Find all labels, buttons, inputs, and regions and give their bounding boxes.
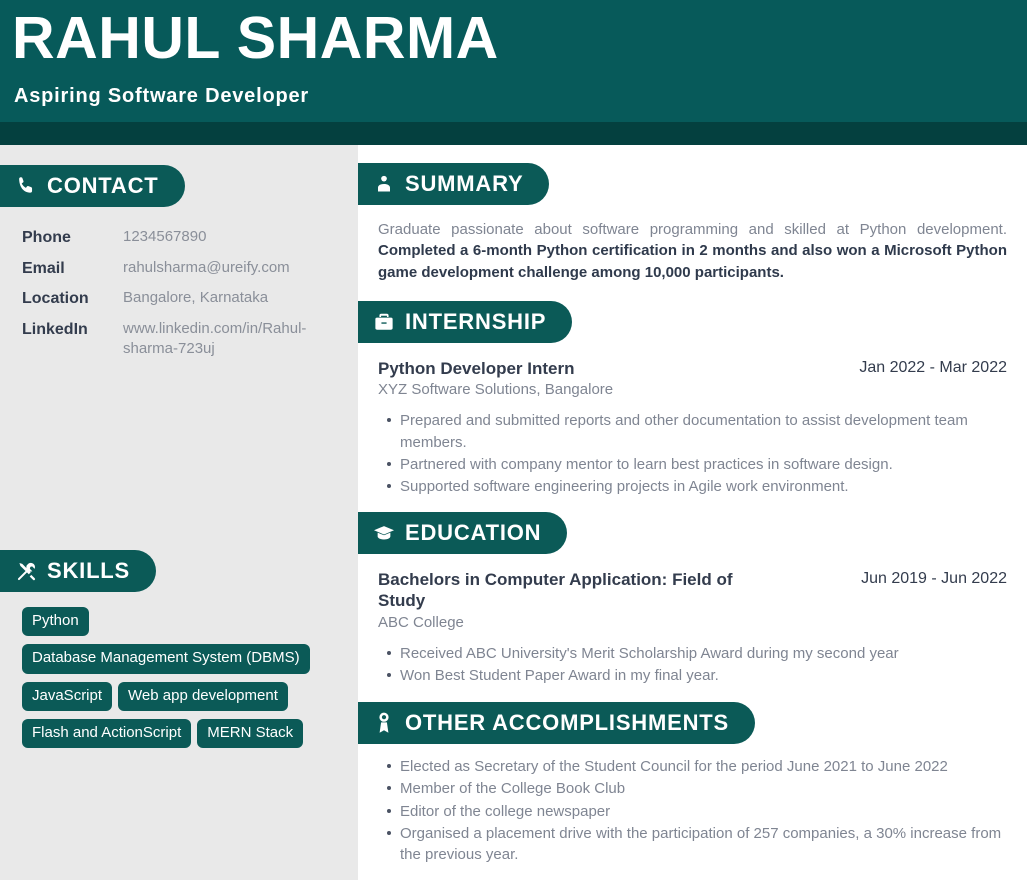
internship-job-title: Python Developer Intern xyxy=(378,358,574,379)
skills-tag-list: Python Database Management System (DBMS)… xyxy=(22,607,342,748)
header-accent-band xyxy=(0,122,1027,145)
education-section-title: EDUCATION xyxy=(405,520,541,546)
graduation-cap-icon xyxy=(372,521,396,545)
skill-tag: Database Management System (DBMS) xyxy=(22,644,310,673)
accomplishments-section: OTHER ACCOMPLISHMENTS Elected as Secreta… xyxy=(358,702,1027,866)
summary-text-bold: Completed a 6-month Python certification… xyxy=(378,242,1007,280)
contact-label: Location xyxy=(22,288,123,310)
list-item: Supported software engineering projects … xyxy=(400,476,1007,497)
accomplishments-section-header: OTHER ACCOMPLISHMENTS xyxy=(358,702,755,744)
summary-text: Graduate passionate about software progr… xyxy=(378,219,1007,283)
contact-label: Phone xyxy=(22,227,123,249)
contact-row-location: Location Bangalore, Karnataka xyxy=(22,288,342,310)
award-ribbon-icon xyxy=(372,711,396,735)
education-date-range: Jun 2019 - Jun 2022 xyxy=(861,569,1007,588)
list-item: Partnered with company mentor to learn b… xyxy=(400,454,1007,475)
contact-section-title: CONTACT xyxy=(47,173,159,199)
contact-value-linkedin[interactable]: www.linkedin.com/in/Rahul-sharma-723uj xyxy=(123,319,323,360)
summary-text-regular: Graduate passionate about software progr… xyxy=(378,221,1007,238)
education-entry-head: Bachelors in Computer Application: Field… xyxy=(378,569,1007,612)
main-column: SUMMARY Graduate passionate about softwa… xyxy=(358,145,1027,880)
skill-tag: Web app development xyxy=(118,682,288,711)
list-item: Member of the College Book Club xyxy=(400,778,1007,799)
candidate-role: Aspiring Software Developer xyxy=(14,85,309,108)
phone-icon xyxy=(14,174,38,198)
contact-row-linkedin: LinkedIn www.linkedin.com/in/Rahul-sharm… xyxy=(22,319,342,360)
sidebar-column: CONTACT Phone 1234567890 Email rahulshar… xyxy=(0,145,358,880)
internship-date-range: Jan 2022 - Mar 2022 xyxy=(859,358,1007,377)
internship-company: XYZ Software Solutions, Bangalore xyxy=(378,381,1007,398)
resume-page: RAHUL SHARMA Aspiring Software Developer… xyxy=(0,0,1027,880)
accomplishments-section-title: OTHER ACCOMPLISHMENTS xyxy=(405,710,729,736)
skill-tag: JavaScript xyxy=(22,682,112,711)
summary-section-title: SUMMARY xyxy=(405,171,523,197)
briefcase-icon xyxy=(372,310,396,334)
summary-section-header: SUMMARY xyxy=(358,163,549,205)
internship-section: INTERNSHIP Python Developer Intern Jan 2… xyxy=(358,301,1027,498)
list-item: Organised a placement drive with the par… xyxy=(400,823,1007,866)
education-bullet-list: Received ABC University's Merit Scholars… xyxy=(378,643,1007,687)
header-banner: RAHUL SHARMA Aspiring Software Developer xyxy=(0,0,1027,122)
skill-tag: Python xyxy=(22,607,89,636)
education-section: EDUCATION Bachelors in Computer Applicat… xyxy=(358,512,1027,687)
contact-label: LinkedIn xyxy=(22,319,123,341)
contact-row-phone: Phone 1234567890 xyxy=(22,227,342,249)
internship-bullet-list: Prepared and submitted reports and other… xyxy=(378,410,1007,497)
education-institution: ABC College xyxy=(378,614,1007,631)
list-item: Editor of the college newspaper xyxy=(400,801,1007,822)
contact-row-email: Email rahulsharma@ureify.com xyxy=(22,258,342,280)
list-item: Elected as Secretary of the Student Coun… xyxy=(400,756,1007,777)
list-item: Won Best Student Paper Award in my final… xyxy=(400,665,1007,686)
candidate-name: RAHUL SHARMA xyxy=(12,8,499,70)
tools-icon xyxy=(14,559,38,583)
contact-value-email: rahulsharma@ureify.com xyxy=(123,258,290,278)
contact-section-header: CONTACT xyxy=(0,165,185,207)
contact-label: Email xyxy=(22,258,123,280)
list-item: Prepared and submitted reports and other… xyxy=(400,410,1007,453)
contact-details-list: Phone 1234567890 Email rahulsharma@ureif… xyxy=(22,227,342,368)
summary-section: SUMMARY Graduate passionate about softwa… xyxy=(358,163,1027,283)
contact-value-phone: 1234567890 xyxy=(123,227,206,247)
education-degree-title: Bachelors in Computer Application: Field… xyxy=(378,569,778,612)
skills-section-header: SKILLS xyxy=(0,550,156,592)
education-section-header: EDUCATION xyxy=(358,512,567,554)
skill-tag: MERN Stack xyxy=(197,719,303,748)
contact-value-location: Bangalore, Karnataka xyxy=(123,288,268,308)
list-item: Received ABC University's Merit Scholars… xyxy=(400,643,1007,664)
internship-entry-head: Python Developer Intern Jan 2022 - Mar 2… xyxy=(378,358,1007,379)
internship-section-title: INTERNSHIP xyxy=(405,309,546,335)
skill-tag: Flash and ActionScript xyxy=(22,719,191,748)
internship-section-header: INTERNSHIP xyxy=(358,301,572,343)
skills-section-title: SKILLS xyxy=(47,558,130,584)
person-icon xyxy=(372,172,396,196)
accomplishments-bullet-list: Elected as Secretary of the Student Coun… xyxy=(378,756,1007,865)
